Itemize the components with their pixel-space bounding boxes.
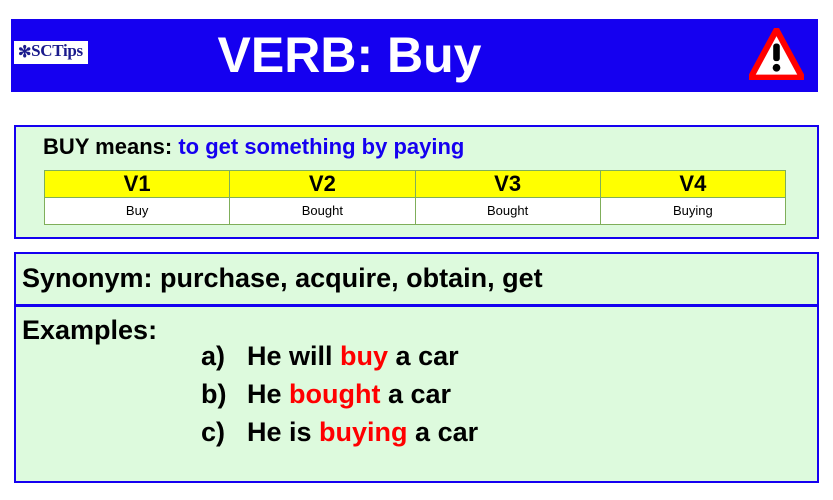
table-header-cell-v4: V4 — [600, 171, 785, 198]
list-item-marker: c) — [201, 413, 247, 451]
table-header-row: V1 V2 V3 V4 — [45, 171, 786, 198]
table-header-cell-v3: V3 — [415, 171, 600, 198]
list-item: c)He is buying a car — [201, 413, 478, 451]
list-item-text-before: He — [247, 379, 289, 409]
meaning-value: to get something by paying — [178, 134, 464, 159]
list-item: b)He bought a car — [201, 375, 478, 413]
table-cell-v3: Bought — [415, 198, 600, 225]
list-item-highlight: bought — [289, 379, 380, 409]
examples-list: a)He will buy a car b)He bought a car c)… — [201, 337, 478, 451]
list-item-marker: b) — [201, 375, 247, 413]
list-item-marker: a) — [201, 337, 247, 375]
table-cell-v2: Bought — [230, 198, 415, 225]
meaning-line: BUY means: to get something by paying — [43, 133, 464, 161]
synonym-text: Synonym: purchase, acquire, obtain, get — [22, 261, 543, 295]
examples-label: Examples: — [22, 313, 157, 347]
table-cell-v1: Buy — [45, 198, 230, 225]
table-header-cell-v2: V2 — [230, 171, 415, 198]
verb-forms-table: V1 V2 V3 V4 Buy Bought Bought Buying — [44, 170, 786, 225]
list-item-text-after: a car — [388, 341, 459, 371]
table-header-cell-v1: V1 — [45, 171, 230, 198]
synonym-row: Synonym: purchase, acquire, obtain, get — [16, 254, 817, 307]
examples-section: Examples: a)He will buy a car b)He bough… — [16, 307, 817, 482]
table-row: Buy Bought Bought Buying — [45, 198, 786, 225]
meaning-panel: BUY means: to get something by paying V1… — [14, 125, 819, 239]
list-item: a)He will buy a car — [201, 337, 478, 375]
warning-triangle-icon — [749, 28, 804, 80]
list-item-highlight: buy — [340, 341, 388, 371]
list-item-text-after: a car — [381, 379, 452, 409]
list-item-highlight: buying — [319, 417, 408, 447]
list-item-text-before: He will — [247, 341, 340, 371]
table-cell-v4: Buying — [600, 198, 785, 225]
meaning-label: BUY means: — [43, 134, 172, 159]
list-item-text-before: He is — [247, 417, 319, 447]
details-panel: Synonym: purchase, acquire, obtain, get … — [14, 252, 819, 483]
page-title: VERB: Buy — [11, 25, 818, 85]
list-item-text-after: a car — [408, 417, 479, 447]
header-bar: ✻SCTips VERB: Buy — [11, 19, 818, 92]
